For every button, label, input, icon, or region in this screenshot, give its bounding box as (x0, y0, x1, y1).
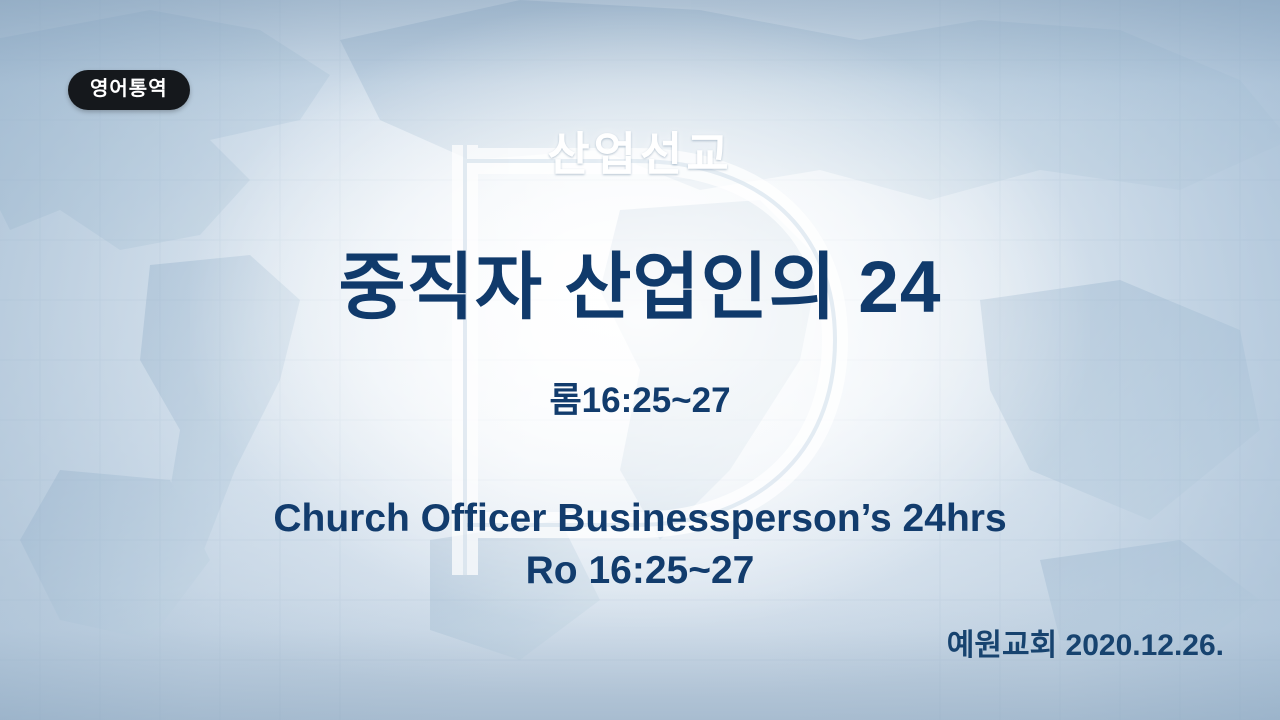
scripture-reference-korean: 롬16:25~27 (0, 372, 1280, 423)
slide-kicker: 산업선교 (0, 118, 1280, 184)
scripture-reference-english: Ro 16:25~27 (0, 545, 1280, 598)
interpretation-badge: 영어통역 (68, 70, 190, 110)
background-shade-top (0, 0, 1280, 120)
page-title-english: Church Officer Businessperson’s 24hrs (0, 493, 1280, 546)
page-title: 중직자 산업인의 24 (0, 248, 1280, 328)
church-name-and-date: 예원교회 2020.12.26. (947, 620, 1224, 664)
broadcast-slide: 영어통역 산업선교 중직자 산업인의 24 롬16:25~27 Church O… (0, 0, 1280, 720)
